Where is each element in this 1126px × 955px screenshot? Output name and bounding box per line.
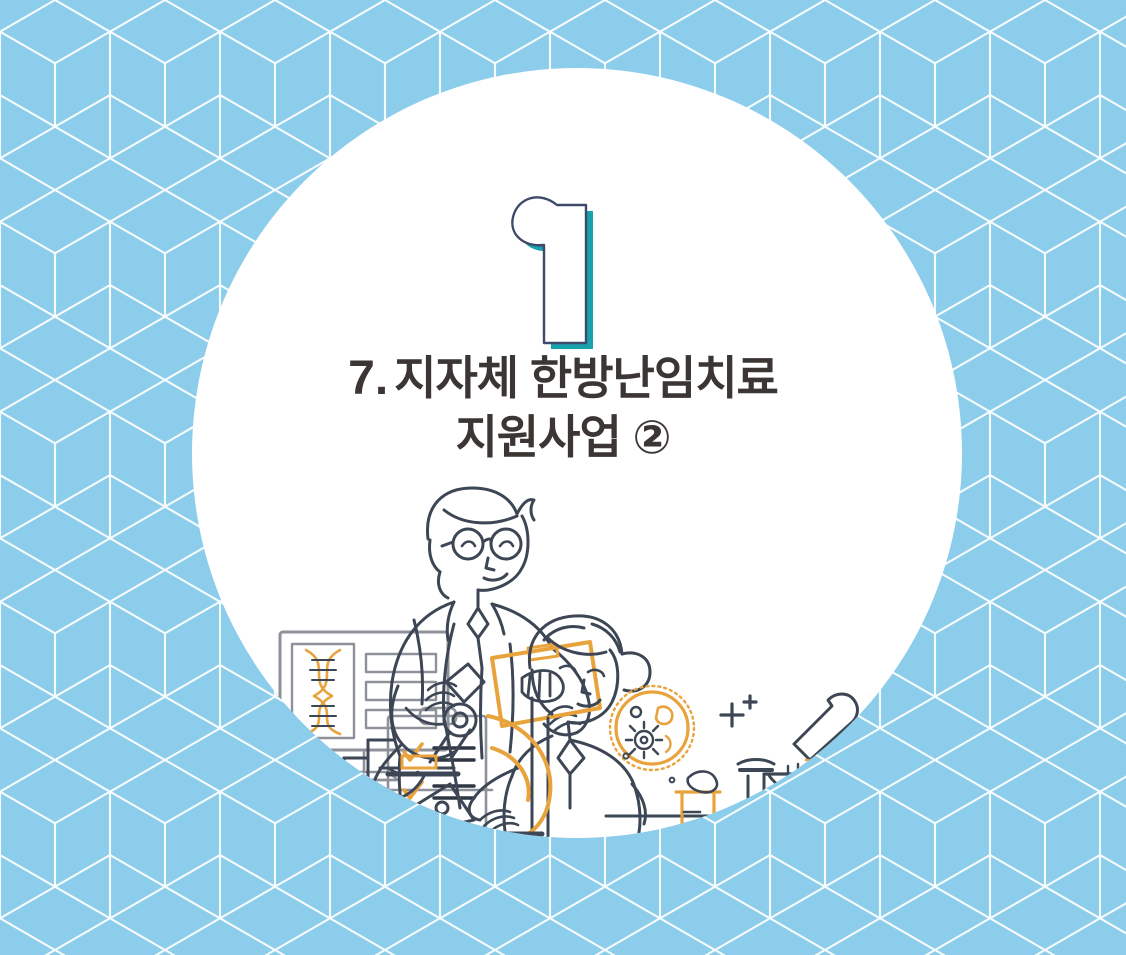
title-line-2: 지원사업 ②	[0, 408, 1126, 466]
dna-circle-icon	[902, 776, 962, 838]
title-line-1: 7.지자체 한방난임치료	[0, 349, 1126, 408]
slide-root: 7.지자체 한방난임치료 지원사업 ②	[0, 0, 1126, 955]
report-document-icon	[878, 682, 962, 808]
title-block: 7.지자체 한방난임치료 지원사업 ②	[0, 349, 1126, 466]
title-number: 7.	[348, 352, 394, 405]
round-flask-icon	[796, 762, 884, 838]
title-text-line-1: 지자체 한방난임치료	[394, 352, 778, 404]
section-number-one	[500, 183, 640, 358]
